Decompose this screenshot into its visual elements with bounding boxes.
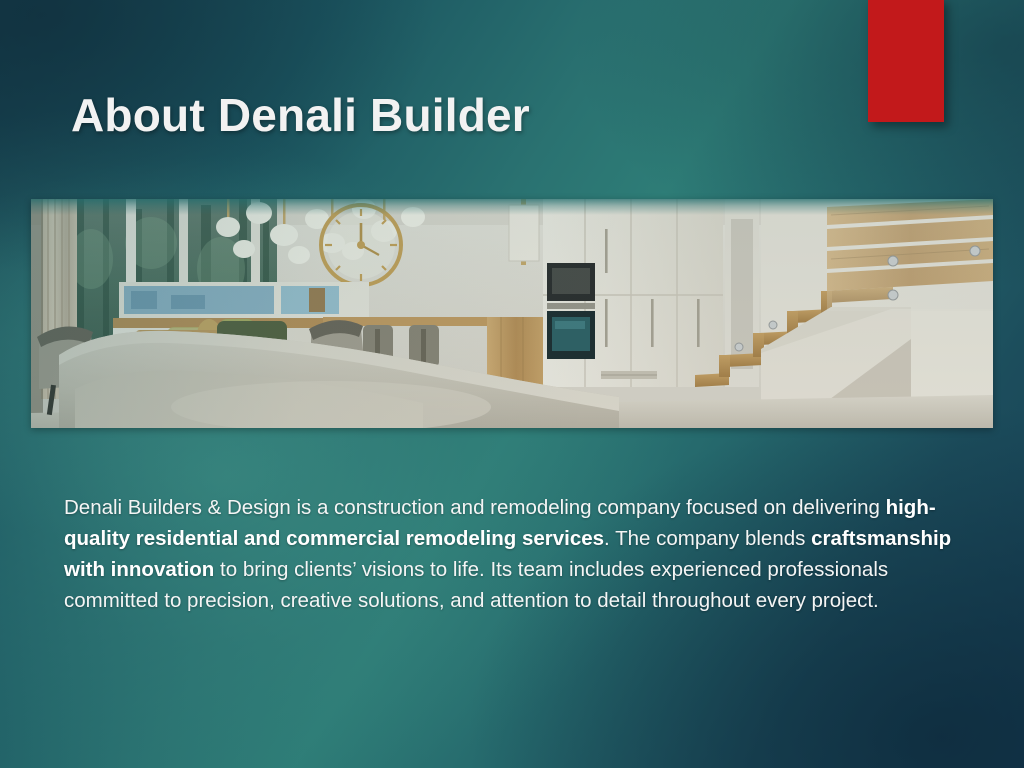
slide: About Denali Builder [0,0,1024,768]
body-run: . The company blends [604,527,811,550]
banner-image [31,199,993,428]
slide-title: About Denali Builder [71,88,530,142]
body-paragraph: Denali Builders & Design is a constructi… [64,492,964,616]
body-run: Denali Builders & Design is a constructi… [64,496,886,519]
red-accent-bar [868,0,944,122]
interior-illustration [31,199,993,428]
